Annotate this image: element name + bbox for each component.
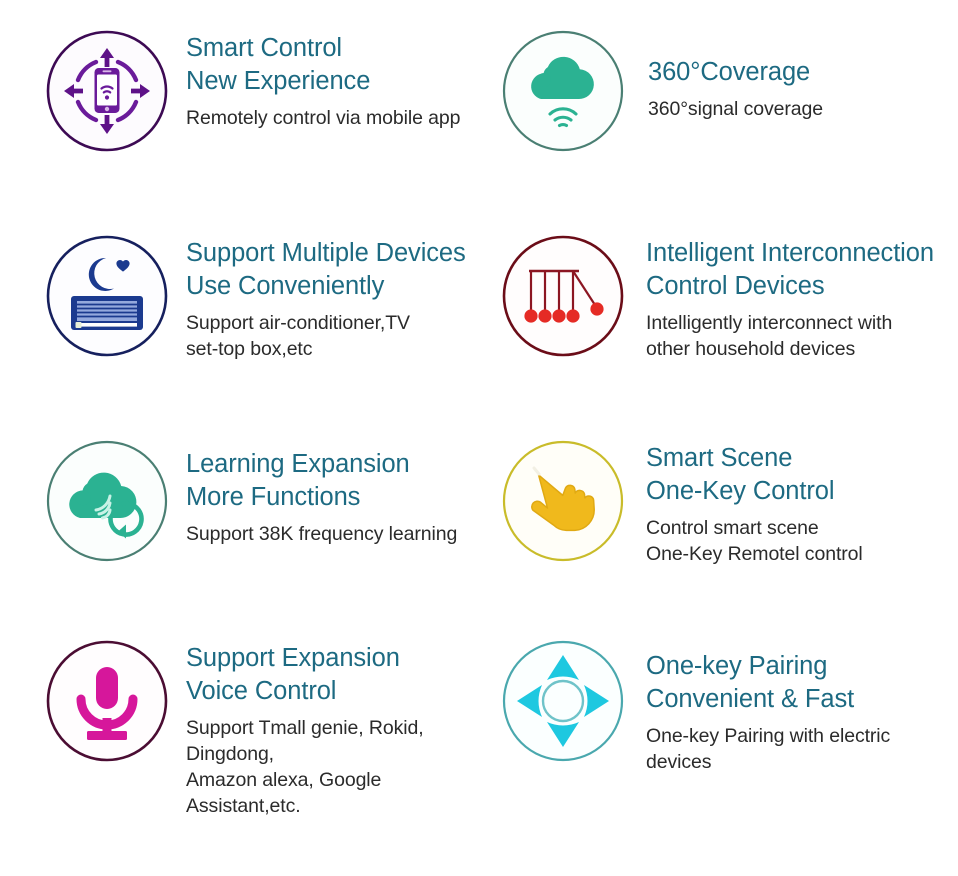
feature-title: Smart Control New Experience [186,32,460,98]
feature-card-smart-control: Smart Control New Experience Remotely co… [0,26,480,231]
feature-text: Intelligent Interconnection Control Devi… [626,231,934,362]
microphone-icon [44,638,170,764]
feature-card-one-key-pairing: One-key Pairing Convenient & Fast One-ke… [480,636,958,836]
feature-description: Intelligently interconnect with other ho… [646,310,934,362]
feature-text: Smart Scene One-Key Control Control smar… [626,436,863,567]
newtons-cradle-icon [500,233,626,359]
feature-title: Learning Expansion More Functions [186,448,457,514]
feature-text: One-key Pairing Convenient & Fast One-ke… [626,636,958,775]
feature-card-intelligent-interconnection: Intelligent Interconnection Control Devi… [480,231,958,436]
smart-control-phone-icon [44,28,170,154]
dpad-arrows-icon [500,638,626,764]
feature-text: Support Expansion Voice Control Support … [170,636,480,819]
cloud-signal-icon [500,28,626,154]
feature-grid: Smart Control New Experience Remotely co… [0,26,958,836]
feature-card-360-coverage: 360°Coverage 360°signal coverage [480,26,958,231]
feature-title: One-key Pairing Convenient & Fast [646,650,958,716]
feature-description: One-key Pairing with electric devices [646,723,958,775]
feature-card-learning-expansion: Learning Expansion More Functions Suppor… [0,436,480,636]
air-conditioner-moon-icon [44,233,170,359]
feature-card-voice-control: Support Expansion Voice Control Support … [0,636,480,836]
feature-title: Smart Scene One-Key Control [646,442,863,508]
feature-text: Support Multiple Devices Use Convenientl… [170,231,466,362]
cloud-sync-learning-icon [44,438,170,564]
feature-title: Support Multiple Devices Use Convenientl… [186,237,466,303]
tap-hand-icon [500,438,626,564]
feature-title: Support Expansion Voice Control [186,642,480,708]
feature-text: Learning Expansion More Functions Suppor… [170,436,457,547]
feature-description: Support 38K frequency learning [186,521,457,547]
feature-description: Support air-conditioner,TV set-top box,e… [186,310,466,362]
feature-card-multiple-devices: Support Multiple Devices Use Convenientl… [0,231,480,436]
feature-description: Control smart scene One-Key Remotel cont… [646,515,863,567]
feature-highlights-board: Smart Control New Experience Remotely co… [0,0,958,876]
feature-description: Support Tmall genie, Rokid, Dingdong, Am… [186,715,480,819]
feature-card-smart-scene: Smart Scene One-Key Control Control smar… [480,436,958,636]
feature-title: 360°Coverage [648,56,823,89]
feature-text: 360°Coverage 360°signal coverage [626,26,823,122]
feature-description: Remotely control via mobile app [186,105,460,131]
feature-text: Smart Control New Experience Remotely co… [170,26,460,131]
feature-description: 360°signal coverage [648,96,823,122]
feature-title: Intelligent Interconnection Control Devi… [646,237,934,303]
